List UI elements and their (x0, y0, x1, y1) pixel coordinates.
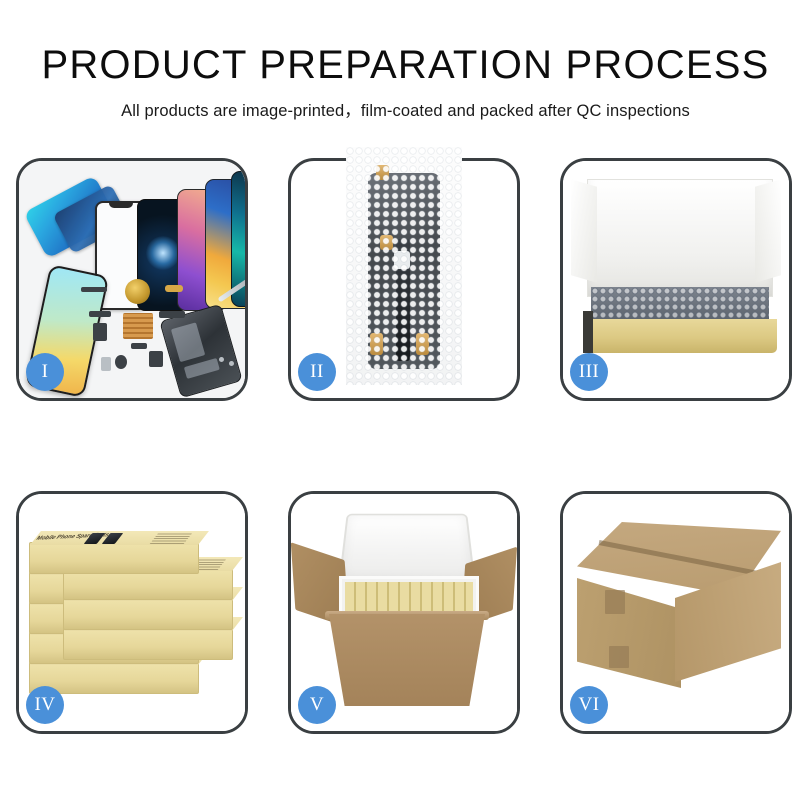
page-title: PRODUCT PREPARATION PROCESS (0, 44, 811, 86)
camera-module (115, 355, 127, 369)
process-step-panel-1: I (16, 158, 248, 401)
screw-a (219, 357, 224, 362)
flex-connector-gold (165, 285, 183, 292)
box-lid-flap-right (755, 179, 781, 282)
vibration-motor (131, 343, 147, 349)
process-step-panel-5: V (288, 491, 520, 734)
retail-box-2b (63, 628, 233, 660)
screw-b (229, 361, 234, 366)
kraft-box-tray (583, 319, 777, 353)
wireless-charging-coil (125, 279, 150, 304)
page-header: PRODUCT PREPARATION PROCESS All products… (0, 0, 811, 121)
copper-shield-mesh (123, 313, 153, 339)
battery-connector (149, 351, 163, 367)
process-step-panel-2: II (288, 158, 520, 401)
retail-box-1: Mobile Phone Spare Parts (29, 542, 199, 574)
flex-cable-c (159, 311, 185, 318)
kraft-box-side-edge (583, 311, 593, 353)
step-badge-1: I (26, 353, 64, 391)
step-badge-2: II (298, 353, 336, 391)
flex-cable-a (89, 311, 111, 317)
earpiece-speaker-mesh (81, 287, 107, 292)
box-lid-white (587, 179, 773, 297)
retail-box-2a (63, 598, 233, 630)
step-badge-3: III (570, 353, 608, 391)
step-badge-6: VI (570, 686, 608, 724)
box-lid-flap-left (571, 179, 597, 282)
carton-tape-upper (605, 590, 625, 614)
process-steps-grid: I II (16, 158, 795, 734)
carton-body (329, 614, 485, 706)
step-badge-5: V (298, 686, 336, 724)
process-step-panel-4: Mobile Phone Spare Parts Mobile Phone Sp… (16, 491, 248, 734)
sim-tray (101, 357, 111, 371)
bubble-wrap-contents (591, 287, 769, 321)
process-step-panel-3: III (560, 158, 792, 401)
carton-tape-lower (609, 646, 629, 668)
carton-front-face (577, 578, 681, 688)
retail-box-stack: Mobile Phone Spare Parts Mobile Phone Sp… (29, 512, 241, 718)
page-subtitle: All products are image-printed，film-coat… (0, 97, 811, 121)
flex-cable-b (93, 323, 107, 341)
foam-lid (339, 514, 476, 581)
bubble-wrap-sleeve (346, 147, 462, 385)
process-step-panel-6: VI (560, 491, 792, 734)
step-badge-4: IV (26, 686, 64, 724)
